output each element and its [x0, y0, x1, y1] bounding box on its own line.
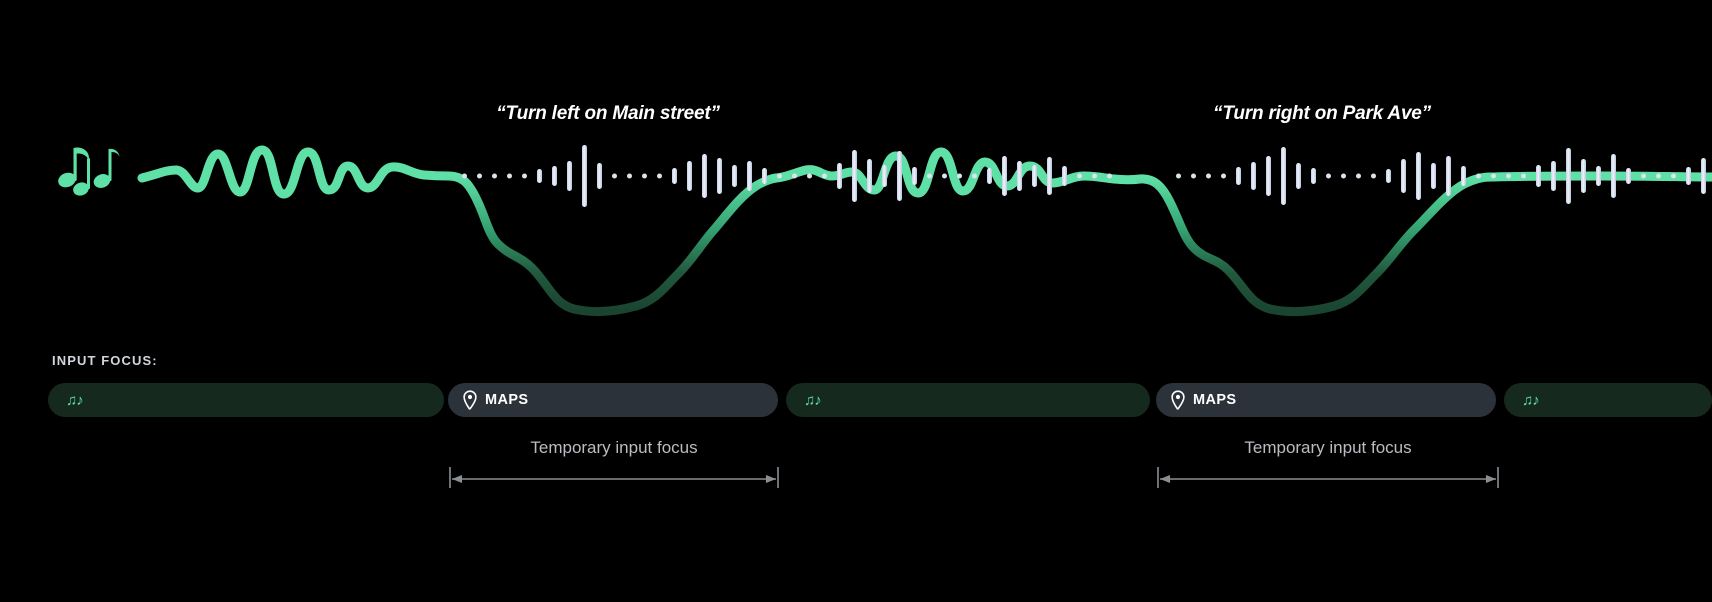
speech-bar — [1656, 174, 1661, 179]
speech-bar — [1521, 174, 1526, 179]
speech-bar — [732, 165, 737, 187]
speech-bar — [912, 167, 917, 185]
speech-bar — [897, 151, 902, 201]
speech-bar — [972, 174, 977, 179]
speech-bar — [1371, 174, 1376, 179]
speech-bar — [1266, 156, 1271, 196]
temporary-focus-annotation-1: Temporary input focus — [448, 438, 780, 488]
speech-bar — [1671, 174, 1676, 179]
waveform-svg — [0, 0, 1712, 340]
temporary-focus-arrow-1 — [448, 466, 780, 488]
speech-bar — [882, 165, 887, 187]
speech-bar — [1047, 157, 1052, 195]
music-notes-icon — [56, 148, 119, 198]
speech-bar — [1221, 174, 1226, 179]
speech-bar — [807, 174, 812, 179]
speech-bar — [1551, 161, 1556, 191]
location-pin-icon — [462, 390, 478, 410]
speech-bar — [1506, 174, 1511, 179]
speech-bar — [1611, 154, 1616, 198]
speech-bar — [1176, 174, 1181, 179]
speech-bar — [1686, 167, 1691, 185]
speech-bar — [1206, 174, 1211, 179]
speech-bar — [942, 174, 947, 179]
speech-bar — [672, 168, 677, 184]
speech-bar — [477, 174, 482, 179]
speech-bar — [792, 174, 797, 179]
input-focus-heading: INPUT FOCUS: — [52, 353, 158, 368]
speech-bar — [597, 163, 602, 189]
temporary-focus-annotation-2: Temporary input focus — [1156, 438, 1500, 488]
speech-bar — [582, 145, 587, 207]
speech-bar — [1251, 162, 1256, 190]
music-wave-segment-2 — [776, 152, 1140, 193]
speech-bar — [1581, 159, 1586, 193]
speech-bar — [627, 174, 632, 179]
temporary-focus-label-2: Temporary input focus — [1156, 438, 1500, 458]
speech-bar — [1566, 148, 1571, 204]
speech-bar — [822, 174, 827, 179]
speech-bar — [1326, 174, 1331, 179]
speech-bar — [702, 154, 707, 198]
speech-bar — [1476, 174, 1481, 179]
waveform-area: “Turn left on Main street” “Turn right o… — [0, 0, 1712, 340]
maps-pill-1[interactable]: MAPS — [448, 383, 778, 417]
speech-bar — [1536, 165, 1541, 187]
maps-pill-label: MAPS — [1193, 392, 1237, 408]
music-pill-2[interactable]: ♫♪ — [786, 383, 1150, 417]
speech-bar — [927, 174, 932, 179]
speech-bar — [1062, 166, 1067, 186]
speech-bar — [1461, 166, 1466, 186]
speech-bar — [1386, 169, 1391, 183]
speech-bar — [837, 163, 842, 189]
speech-bar — [1341, 174, 1346, 179]
speech-bar — [852, 150, 857, 202]
audio-focus-timeline-diagram: “Turn left on Main street” “Turn right o… — [0, 0, 1712, 602]
speech-bar — [462, 174, 467, 179]
speech-bar — [507, 174, 512, 179]
caption-prompt-1: “Turn left on Main street” — [496, 103, 720, 125]
speech-bar — [492, 174, 497, 179]
speech-bar — [1596, 166, 1601, 186]
speech-bar — [657, 174, 662, 179]
speech-bar — [1416, 152, 1421, 200]
speech-bar — [1077, 174, 1082, 179]
speech-bar — [777, 174, 782, 179]
speech-bar — [957, 174, 962, 179]
speech-bar — [1032, 165, 1037, 187]
speech-bar — [1446, 156, 1451, 196]
location-pin-icon — [1170, 390, 1186, 410]
speech-bar — [1296, 163, 1301, 189]
speech-bar — [747, 161, 752, 191]
speech-bar — [567, 161, 572, 191]
speech-bar — [762, 168, 767, 184]
music-wave-dip-1 — [448, 176, 776, 312]
speech-bar — [612, 174, 617, 179]
speech-bar — [687, 161, 692, 191]
music-notes-icon: ♫♪ — [66, 393, 83, 408]
speech-bar — [1191, 174, 1196, 179]
speech-bar — [1356, 174, 1361, 179]
speech-bar — [1401, 159, 1406, 193]
speech-bar — [537, 169, 542, 183]
speech-bar — [1017, 161, 1022, 191]
speech-bar — [1092, 174, 1097, 179]
temporary-focus-label-1: Temporary input focus — [448, 438, 780, 458]
speech-bar — [1641, 174, 1646, 179]
speech-bar — [867, 159, 872, 193]
music-notes-icon: ♫♪ — [1522, 393, 1539, 408]
speech-bar — [1002, 156, 1007, 196]
speech-bar — [1701, 158, 1706, 194]
speech-bar — [1311, 168, 1316, 184]
music-notes-icon: ♫♪ — [804, 393, 821, 408]
speech-bar — [1431, 163, 1436, 189]
speech-bar — [1281, 147, 1286, 205]
speech-bar — [552, 166, 557, 186]
caption-prompt-2: “Turn right on Park Ave” — [1213, 103, 1431, 125]
music-pill-1[interactable]: ♫♪ — [48, 383, 444, 417]
maps-pill-label: MAPS — [485, 392, 529, 408]
speech-bar — [642, 174, 647, 179]
music-wave-segment-1 — [142, 150, 448, 194]
speech-bar — [522, 174, 527, 179]
speech-bar — [1236, 167, 1241, 185]
speech-bar — [717, 158, 722, 194]
temporary-focus-arrow-2 — [1156, 466, 1500, 488]
music-pill-3[interactable]: ♫♪ — [1504, 383, 1712, 417]
speech-bar — [1107, 174, 1112, 179]
speech-bar — [987, 168, 992, 184]
speech-bar — [1626, 168, 1631, 184]
speech-bar — [1491, 174, 1496, 179]
maps-pill-2[interactable]: MAPS — [1156, 383, 1496, 417]
music-wave-dip-2 — [1140, 177, 1490, 312]
